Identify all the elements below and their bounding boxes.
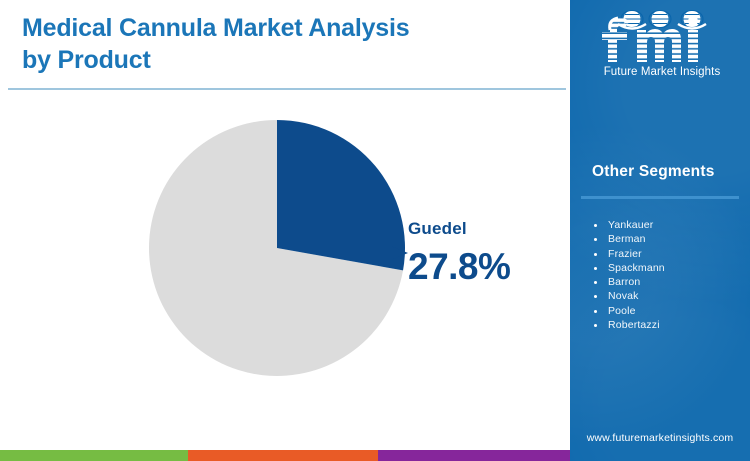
list-item: Berman bbox=[588, 232, 746, 246]
callout-value: 27.8% bbox=[408, 246, 510, 288]
letter-i-dot bbox=[688, 16, 698, 26]
list-item: Spackmann bbox=[588, 261, 746, 275]
strip-segment-green bbox=[0, 450, 188, 461]
fmi-logo: Future Market Insights bbox=[592, 8, 732, 86]
globe-icon-2 bbox=[649, 11, 671, 28]
right-sidebar-panel: Future Market Insights Other Segments Ya… bbox=[570, 0, 750, 461]
pie-chart-area: Guedel 27.8% Guedel All Other Segments bbox=[0, 96, 568, 396]
segments-divider bbox=[581, 196, 739, 199]
strip-segment-purple bbox=[378, 450, 570, 461]
header-divider bbox=[8, 88, 566, 90]
callout-arrow-icon bbox=[336, 246, 408, 260]
list-item: Frazier bbox=[588, 247, 746, 261]
infographic-canvas: Medical Cannula Market Analysis by Produ… bbox=[0, 0, 750, 461]
page-title: Medical Cannula Market Analysis by Produ… bbox=[22, 12, 442, 76]
list-item: Barron bbox=[588, 275, 746, 289]
list-item: Poole bbox=[588, 304, 746, 318]
other-segments-list: Yankauer Berman Frazier Spackmann Barron… bbox=[588, 218, 746, 332]
callout-label: Guedel bbox=[408, 219, 467, 239]
logo-tagline: Future Market Insights bbox=[592, 66, 732, 78]
other-segments-heading: Other Segments bbox=[592, 163, 715, 181]
fmi-wordmark-icon bbox=[592, 8, 732, 66]
list-item: Novak bbox=[588, 289, 746, 303]
list-item: Robertazzi bbox=[588, 318, 746, 332]
list-item: Yankauer bbox=[588, 218, 746, 232]
website-url[interactable]: www.futuremarketinsights.com bbox=[570, 432, 750, 444]
bottom-color-strip bbox=[0, 450, 570, 461]
strip-segment-orange bbox=[188, 450, 378, 461]
